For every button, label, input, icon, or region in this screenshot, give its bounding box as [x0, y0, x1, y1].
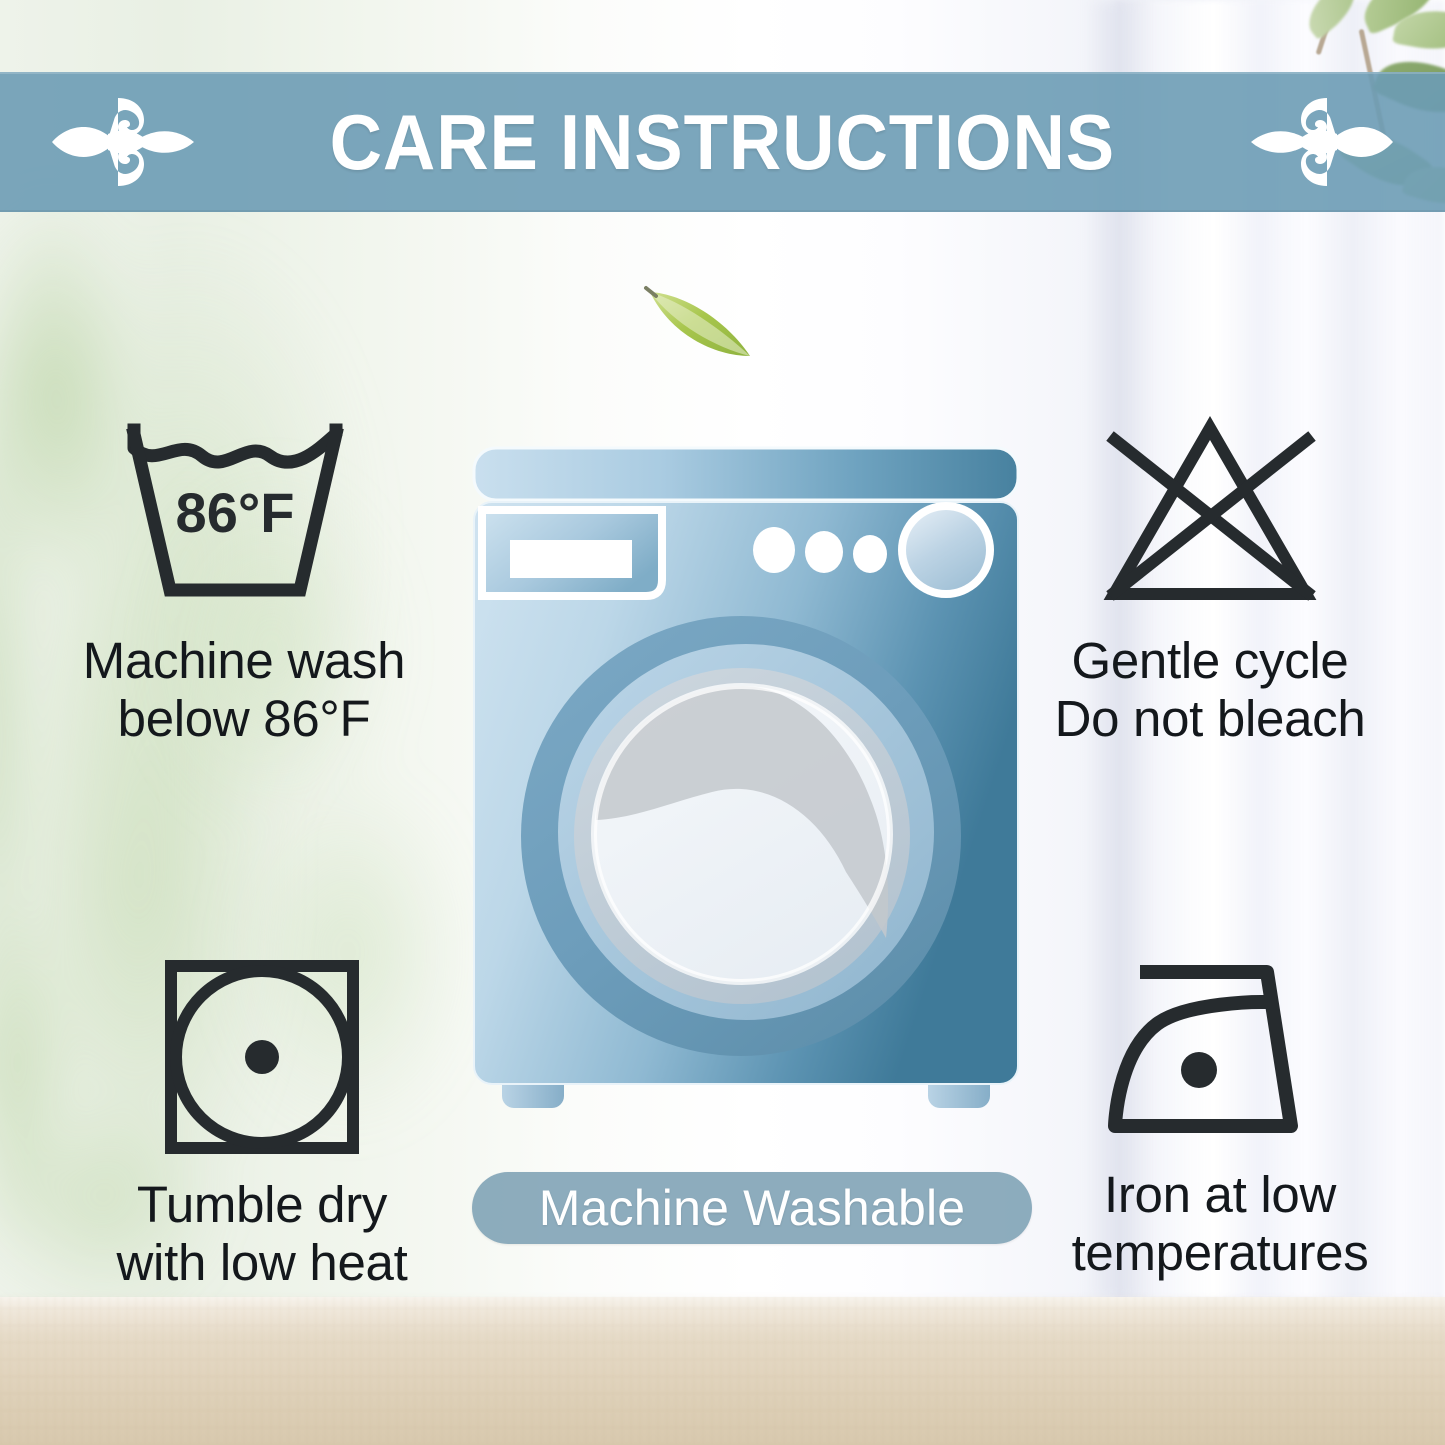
care-item-iron-low: Iron at low temperatures	[1010, 958, 1430, 1281]
machine-washable-badge: Machine Washable	[472, 1172, 1032, 1244]
indicator-light-2	[805, 531, 843, 573]
fleur-de-lis-icon-right	[1247, 90, 1397, 194]
care-item-tumble-dry: Tumble dry with low heat	[52, 958, 472, 1291]
care-item-label-tumble-dry: Tumble dry with low heat	[117, 1176, 408, 1291]
table-wood-grain	[0, 1297, 1445, 1445]
wash-tub-icon: 86°F	[114, 414, 374, 614]
care-item-label-do-not-bleach: Gentle cycle Do not bleach	[1055, 632, 1366, 747]
detergent-drawer-slot	[510, 540, 632, 578]
machine-washable-badge-text: Machine Washable	[539, 1183, 966, 1233]
fleur-de-lis-icon-left	[48, 90, 198, 194]
care-item-machine-wash: 86°F Machine wash below 86°F	[34, 414, 454, 747]
iron-low-heat-icon	[1095, 958, 1345, 1148]
floating-leaf-icon	[640, 276, 760, 368]
control-dial	[906, 510, 986, 590]
care-instructions-infographic: CARE INSTRUCTIONS 8	[0, 0, 1445, 1445]
indicator-light-3	[853, 535, 887, 573]
header-banner: CARE INSTRUCTIONS	[0, 72, 1445, 212]
washer-lid	[474, 448, 1018, 500]
indicator-light-1	[753, 527, 795, 573]
wash-temperature-value: 86°F	[176, 481, 295, 544]
care-item-label-iron-low: Iron at low temperatures	[1072, 1166, 1369, 1281]
page-title: CARE INSTRUCTIONS	[296, 103, 1149, 181]
care-item-label-machine-wash: Machine wash below 86°F	[83, 632, 405, 747]
washing-machine-illustration	[466, 440, 1026, 1130]
do-not-bleach-triangle-icon	[1080, 414, 1340, 614]
tumble-dry-low-icon	[157, 958, 367, 1158]
care-item-do-not-bleach: Gentle cycle Do not bleach	[1000, 414, 1420, 747]
